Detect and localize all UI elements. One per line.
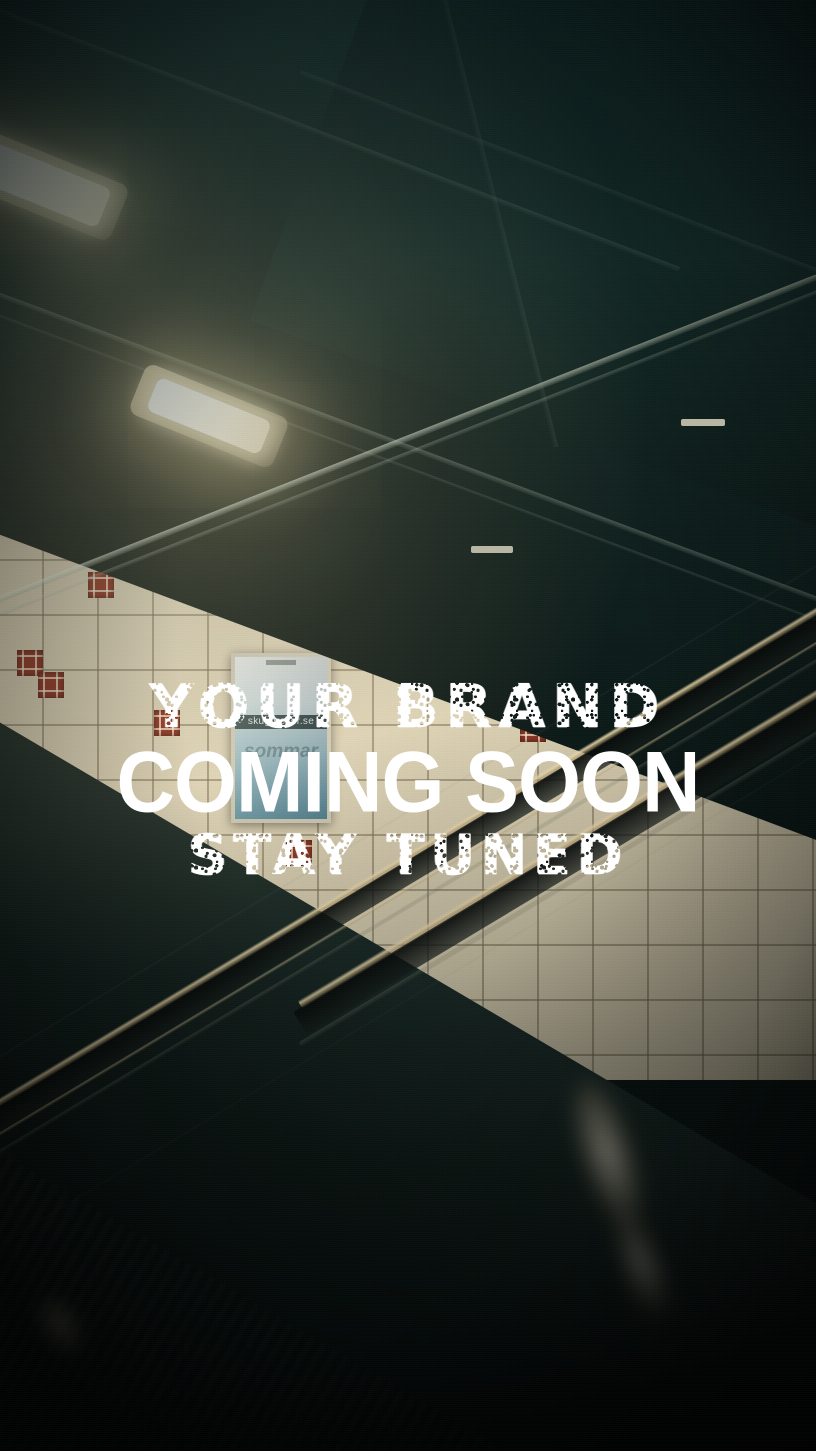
headline-your-brand[interactable]: YOUR BRAND — [0, 672, 816, 742]
headline-stay-tuned[interactable]: STAY TUNED — [0, 823, 816, 887]
poster-top-clip — [681, 419, 726, 426]
poster-top-clip — [266, 660, 295, 665]
poster-top-clip — [471, 546, 513, 553]
headline-coming-soon[interactable]: COMING SOON — [0, 734, 816, 833]
story-canvas: med sin barn frånvaro sommar skuggresor.… — [0, 0, 816, 1451]
